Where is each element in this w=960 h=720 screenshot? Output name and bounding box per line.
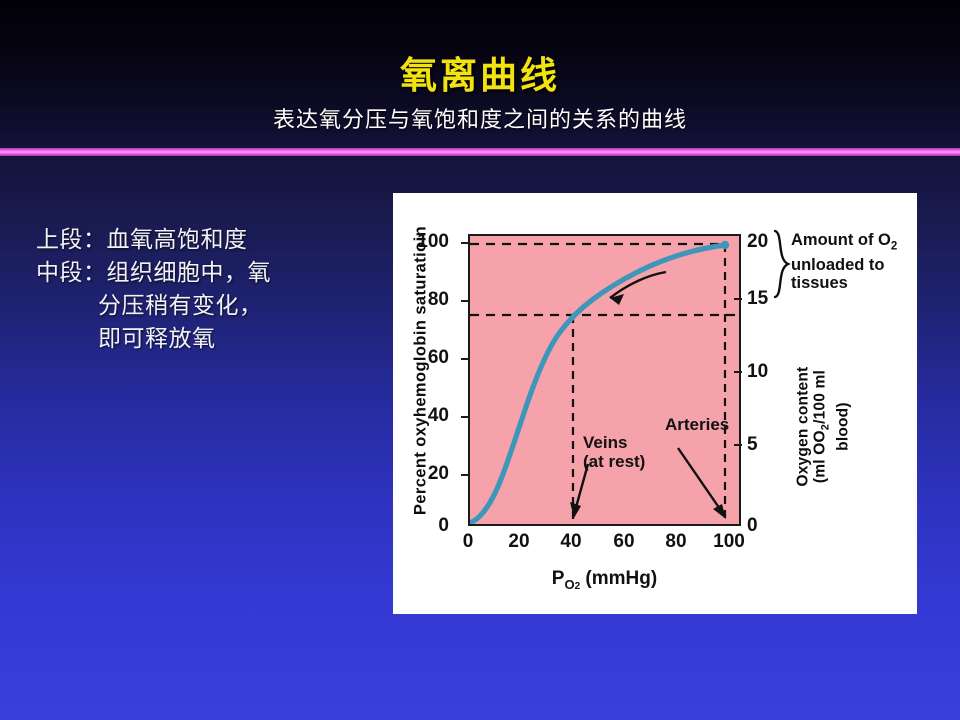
y-axis-label-right-line-2: (ml OO2/100 ml: [811, 307, 834, 547]
y-tick-mark-left-60: [461, 358, 469, 360]
annotation-unloaded-line-1: Amount of O2: [791, 231, 897, 256]
y-tick-mark-right-15: [734, 298, 742, 300]
annotation-unloaded-line-2: unloaded to: [791, 256, 897, 275]
x-tick-80: 80: [651, 531, 701, 553]
slide-canvas: 氧离曲线 表达氧分压与氧饱和度之间的关系的曲线 上段：血氧高饱和度 中段：组织细…: [0, 0, 960, 720]
x-axis-label-o2: O2: [564, 577, 580, 592]
annotation-veins-line-2: (at rest): [583, 452, 645, 471]
body-text-line-2: 中段：组织细胞中，氧: [36, 257, 366, 290]
y-axis-label-right: Oxygen content (ml OO2/100 ml blood): [794, 307, 851, 547]
veins-arrow-icon: [575, 464, 588, 511]
plot-area: [468, 234, 741, 526]
body-text-line-4: 即可释放氧: [36, 323, 366, 356]
x-tick-0: 0: [443, 531, 493, 553]
figure-panel: Percent oxyhemoglobin saturatioin Oxygen…: [393, 193, 917, 614]
y-axis-right-ml: (ml O: [811, 443, 828, 484]
title-block: 氧离曲线 表达氧分压与氧饱和度之间的关系的曲线: [0, 0, 960, 148]
y-tick-left-60: 60: [403, 347, 449, 369]
annotation-unloaded: Amount of O2 unloaded to tissues: [791, 231, 897, 293]
body-text-line-1: 上段：血氧高饱和度: [36, 224, 366, 257]
body-text-line-3: 分压稍有变化，: [36, 290, 366, 323]
annotation-unloaded-text: Amount of O: [791, 231, 891, 249]
y-axis-label-right-line-3: blood): [835, 307, 852, 547]
x-tick-100: 100: [704, 531, 754, 553]
annotation-arteries: Arteries: [665, 415, 729, 434]
x-tick-40: 40: [546, 531, 596, 553]
y-tick-mark-left-40: [461, 416, 469, 418]
y-tick-left-20: 20: [403, 463, 449, 485]
chart-svg: [470, 236, 739, 524]
y-axis-right-per100: /100 ml: [811, 370, 828, 424]
x-axis-label-p: P: [552, 568, 565, 589]
y-tick-mark-left-100: [461, 242, 469, 244]
y-axis-label-right-line-1: Oxygen content: [794, 307, 811, 547]
page-title: 氧离曲线: [0, 54, 960, 96]
dissociation-curve: [472, 245, 725, 522]
y-tick-right-10: 10: [747, 361, 793, 383]
y-tick-left-100: 100: [403, 231, 449, 253]
y-tick-left-80: 80: [403, 289, 449, 311]
x-tick-20: 20: [494, 531, 544, 553]
x-axis-label-unit: (mmHg): [580, 568, 657, 589]
y-tick-left-40: 40: [403, 405, 449, 427]
curly-brace-icon: [771, 229, 793, 299]
curve-end-marker: [721, 241, 729, 249]
y-tick-right-5: 5: [747, 434, 793, 456]
annotation-unloaded-sub: 2: [891, 240, 897, 252]
x-axis-label: PO2 (mmHg): [468, 568, 741, 592]
title-divider: [0, 148, 960, 156]
y-tick-mark-right-5: [734, 444, 742, 446]
body-text-block: 上段：血氧高饱和度 中段：组织细胞中，氧 分压稍有变化， 即可释放氧: [36, 224, 366, 356]
arteries-arrow-icon: [678, 448, 722, 512]
y-tick-mark-left-20: [461, 474, 469, 476]
page-subtitle: 表达氧分压与氧饱和度之间的关系的曲线: [0, 108, 960, 134]
veins-arrow-head-icon: [570, 502, 581, 518]
annotation-unloaded-line-3: tissues: [791, 274, 897, 293]
y-tick-mark-right-10: [734, 371, 742, 373]
annotation-veins-line-1: Veins: [583, 433, 645, 452]
annotation-veins: Veins (at rest): [583, 433, 645, 471]
y-tick-mark-left-80: [461, 300, 469, 302]
x-tick-60: 60: [599, 531, 649, 553]
oxygen-symbol: O2: [811, 424, 828, 443]
